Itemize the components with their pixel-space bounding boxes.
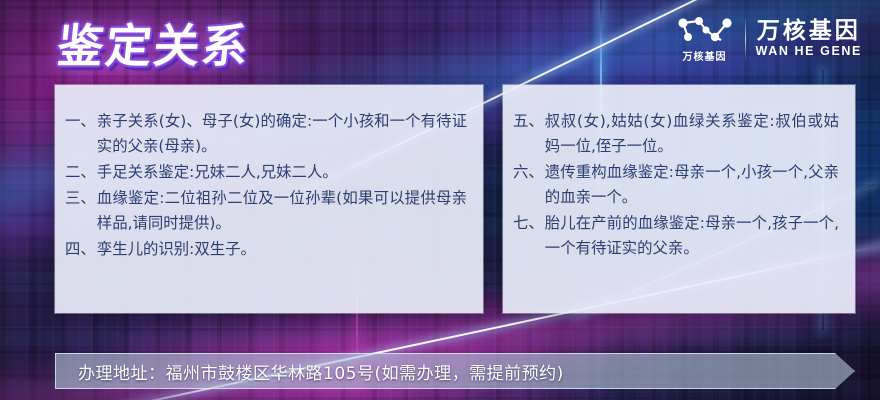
- list-item: 五、 叔叔(女),姑姑(女)血绿关系鉴定:叔伯或姑妈一位,侄子一位。: [513, 109, 839, 159]
- molecule-icon: [675, 14, 735, 46]
- logo-mark: 万核基因: [675, 14, 735, 63]
- list-item-text: 遗传重构血缘鉴定:母亲一个,小孩一个,父亲的血亲一个。: [545, 160, 839, 210]
- list-item: 三、 血缘鉴定:二位祖孙二位及一位孙辈(如果可以提供母亲样品,请同时提供)。: [65, 186, 467, 236]
- logo-wordmark: 万核基因 WAN HE GENE: [756, 19, 863, 58]
- content-panels: 一、 亲子关系(女)、母子(女)的确定:一个小孩和一个有待证实的父亲(母亲)。 …: [55, 85, 855, 313]
- list-item: 二、 手足关系鉴定:兄妹二人,兄妹二人。: [65, 160, 467, 185]
- list-item: 七、 胎儿在产前的血缘鉴定:母亲一个,孩子一个,一个有待证实的父亲。: [513, 211, 839, 261]
- list-item-number: 一、: [65, 109, 97, 134]
- list-item-text: 叔叔(女),姑姑(女)血绿关系鉴定:叔伯或姑妈一位,侄子一位。: [545, 109, 839, 159]
- panel-right: 五、 叔叔(女),姑姑(女)血绿关系鉴定:叔伯或姑妈一位,侄子一位。 六、 遗传…: [503, 85, 855, 313]
- address-text: 办理地址：福州市鼓楼区华林路105号(如需办理，需提前预约): [56, 359, 564, 384]
- list-item-text: 孪生儿的识别:双生子。: [97, 237, 467, 262]
- list-item-number: 三、: [65, 186, 97, 211]
- list-item-number: 七、: [513, 211, 545, 236]
- brand-logo: 万核基因 万核基因 WAN HE GENE: [675, 14, 863, 63]
- list-item: 四、 孪生儿的识别:双生子。: [65, 237, 467, 262]
- logo-divider: [745, 18, 746, 60]
- promo-poster: 鉴定关系: [0, 0, 880, 400]
- list-item-text: 血缘鉴定:二位祖孙二位及一位孙辈(如果可以提供母亲样品,请同时提供)。: [97, 186, 467, 236]
- brand-name-en: WAN HE GENE: [756, 44, 863, 58]
- list-item-text: 亲子关系(女)、母子(女)的确定:一个小孩和一个有待证实的父亲(母亲)。: [97, 109, 467, 159]
- list-item-text: 手足关系鉴定:兄妹二人,兄妹二人。: [97, 160, 467, 185]
- address-banner: 办理地址：福州市鼓楼区华林路105号(如需办理，需提前预约): [55, 353, 855, 389]
- panel-left: 一、 亲子关系(女)、母子(女)的确定:一个小孩和一个有待证实的父亲(母亲)。 …: [55, 85, 483, 313]
- brand-name-cn: 万核基因: [757, 19, 861, 43]
- list-item: 一、 亲子关系(女)、母子(女)的确定:一个小孩和一个有待证实的父亲(母亲)。: [65, 109, 467, 159]
- list-item-number: 二、: [65, 160, 97, 185]
- list-item-number: 六、: [513, 160, 545, 185]
- list-item-number: 四、: [65, 237, 97, 262]
- list-item-number: 五、: [513, 109, 545, 134]
- list-item-text: 胎儿在产前的血缘鉴定:母亲一个,孩子一个,一个有待证实的父亲。: [545, 211, 839, 261]
- logo-mark-label: 万核基因: [683, 48, 727, 63]
- list-item: 六、 遗传重构血缘鉴定:母亲一个,小孩一个,父亲的血亲一个。: [513, 160, 839, 210]
- page-title: 鉴定关系: [55, 10, 254, 76]
- address-banner-body: 办理地址：福州市鼓楼区华林路105号(如需办理，需提前预约): [55, 353, 855, 389]
